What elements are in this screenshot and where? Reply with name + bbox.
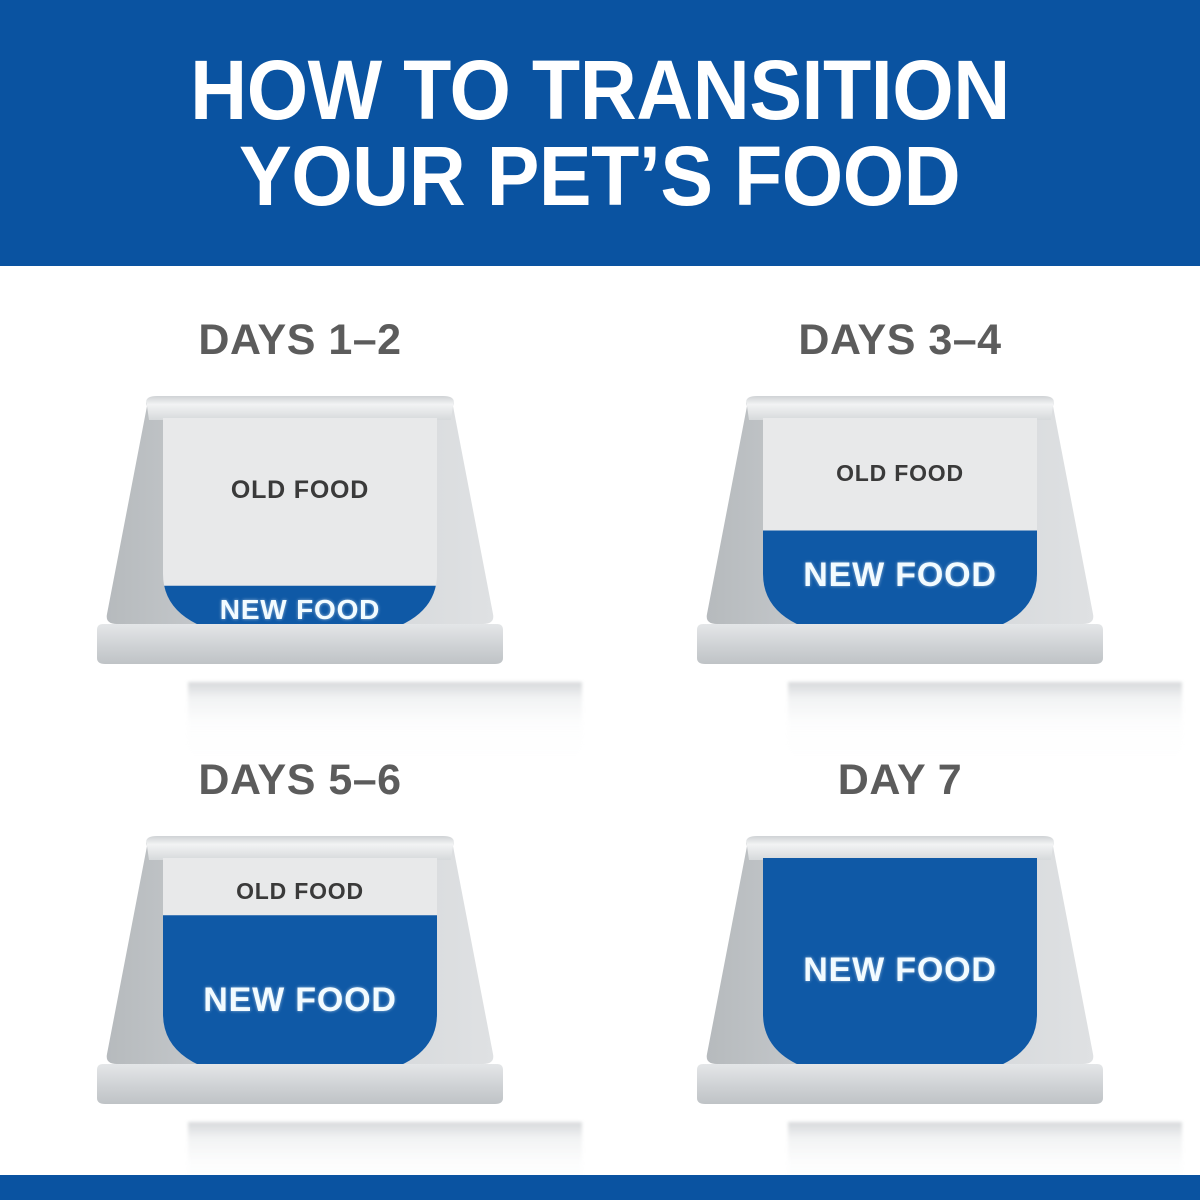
panel-days-1-2: DAYS 1–2 — [0, 316, 600, 756]
panel-days-3-4: DAYS 3–4 — [600, 316, 1200, 756]
header-title-line-1: HOW TO TRANSITION — [190, 49, 1010, 131]
panel-days-5-6: DAYS 5–6 — [0, 756, 600, 1196]
bowl-reflection — [788, 682, 1182, 756]
bowl-days-5-6: OLD FOOD NEW FOOD — [85, 826, 515, 1126]
panel-title-days-3-4: DAYS 3–4 — [600, 316, 1200, 365]
bowl-days-3-4: OLD FOOD NEW FOOD — [685, 386, 1115, 686]
infographic-page: HOW TO TRANSITION YOUR PET’S FOOD DAYS 1… — [0, 0, 1200, 1200]
bowl-panel-grid: DAYS 1–2 — [0, 266, 1200, 1175]
bowl-illustration-icon — [85, 826, 515, 1126]
new-food-fill — [755, 856, 1045, 1096]
bowl-rim — [746, 836, 1054, 860]
panel-title-day-7: DAY 7 — [600, 756, 1200, 805]
panel-day-7: DAY 7 — [600, 756, 1200, 1196]
bowl-illustration-icon — [85, 386, 515, 686]
panel-title-days-1-2: DAYS 1–2 — [0, 316, 600, 365]
panel-title-days-5-6: DAYS 5–6 — [0, 756, 600, 805]
bowl-rim — [746, 396, 1054, 420]
header-banner: HOW TO TRANSITION YOUR PET’S FOOD — [0, 0, 1200, 266]
bowl-illustration-icon — [685, 826, 1115, 1126]
header-title-line-2: YOUR PET’S FOOD — [239, 135, 960, 217]
bowl-rim — [146, 836, 454, 860]
bowl-days-1-2: OLD FOOD NEW FOOD — [85, 386, 515, 686]
bowl-base — [97, 1064, 503, 1104]
footer-bar — [0, 1175, 1200, 1200]
bowl-reflection — [188, 682, 582, 756]
bowl-day-7: NEW FOOD — [685, 826, 1115, 1126]
bowl-base — [697, 1064, 1103, 1104]
bowl-illustration-icon — [685, 386, 1115, 686]
bowl-base — [97, 624, 503, 664]
bowl-rim — [146, 396, 454, 420]
bowl-base — [697, 624, 1103, 664]
